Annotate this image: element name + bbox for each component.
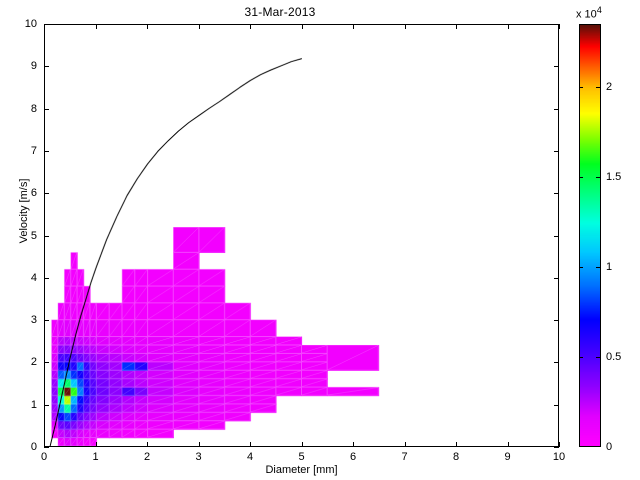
colorbar-tick-label-1.5: 1.5 <box>606 171 621 183</box>
y-tick-mark <box>554 447 559 448</box>
colorbar-tick-label-2: 2 <box>606 81 612 93</box>
y-axis-label: Velocity [m/s] <box>18 151 30 271</box>
x-tick-mark <box>250 442 251 447</box>
x-tick-mark <box>302 442 303 447</box>
y-tick-mark <box>44 320 49 321</box>
x-tick-label-8: 8 <box>453 451 459 463</box>
x-tick-label-0: 0 <box>41 451 47 463</box>
y-tick-label-8: 8 <box>0 103 37 115</box>
x-tick-label-10: 10 <box>553 451 565 463</box>
x-tick-mark <box>456 24 457 29</box>
y-tick-mark <box>554 236 559 237</box>
y-tick-mark <box>554 278 559 279</box>
x-tick-mark <box>96 24 97 29</box>
y-tick-mark <box>554 320 559 321</box>
colorbar-tick-label-0: 0 <box>606 441 612 453</box>
x-tick-mark <box>302 24 303 29</box>
y-tick-label-3: 3 <box>0 314 37 326</box>
y-tick-mark <box>44 278 49 279</box>
y-tick-mark <box>44 447 49 448</box>
colorbar-tick-mark <box>579 267 583 268</box>
y-tick-mark <box>554 405 559 406</box>
matlab-figure-window: 31-Mar-2013 012345678910 012345678910 Di… <box>0 0 640 480</box>
x-tick-label-6: 6 <box>350 451 356 463</box>
colorbar: 00.511.52 <box>579 24 601 447</box>
page-title: 31-Mar-2013 <box>0 5 560 19</box>
colorbar-tick-mark <box>579 357 583 358</box>
y-tick-label-4: 4 <box>0 272 37 284</box>
y-tick-label-10: 10 <box>0 18 37 30</box>
x-tick-mark <box>559 442 560 447</box>
x-tick-mark <box>353 24 354 29</box>
x-tick-mark <box>456 442 457 447</box>
x-tick-mark <box>508 24 509 29</box>
y-tick-mark <box>44 66 49 67</box>
x-tick-label-7: 7 <box>401 451 407 463</box>
x-axis-label: Diameter [mm] <box>44 464 559 476</box>
y-tick-mark <box>44 193 49 194</box>
y-tick-label-0: 0 <box>0 441 37 453</box>
x-tick-mark <box>147 442 148 447</box>
y-tick-mark <box>554 193 559 194</box>
x-tick-label-9: 9 <box>504 451 510 463</box>
x-tick-mark <box>405 442 406 447</box>
y-tick-label-2: 2 <box>0 356 37 368</box>
x-tick-mark <box>250 24 251 29</box>
y-tick-label-1: 1 <box>0 399 37 411</box>
heatmap-canvas <box>45 25 558 446</box>
x-tick-mark <box>199 442 200 447</box>
y-tick-mark <box>554 24 559 25</box>
x-tick-mark <box>96 442 97 447</box>
y-tick-mark <box>44 405 49 406</box>
y-tick-mark <box>44 109 49 110</box>
y-tick-mark <box>44 151 49 152</box>
y-tick-mark <box>554 109 559 110</box>
colorbar-multiplier-mantissa: x 10 <box>576 9 597 21</box>
x-tick-mark <box>405 24 406 29</box>
colorbar-multiplier-label: x 104 <box>576 5 602 21</box>
x-tick-label-5: 5 <box>298 451 304 463</box>
y-tick-mark <box>44 236 49 237</box>
y-tick-label-9: 9 <box>0 60 37 72</box>
colorbar-tick-label-1: 1 <box>606 261 612 273</box>
colorbar-tick-mark <box>596 267 600 268</box>
y-tick-mark <box>44 24 49 25</box>
x-tick-mark <box>147 24 148 29</box>
colorbar-gradient-canvas <box>580 25 600 446</box>
x-tick-label-4: 4 <box>247 451 253 463</box>
x-tick-mark <box>559 24 560 29</box>
colorbar-tick-label-0.5: 0.5 <box>606 351 621 363</box>
colorbar-tick-mark <box>596 87 600 88</box>
y-tick-mark <box>554 151 559 152</box>
y-tick-mark <box>554 362 559 363</box>
colorbar-tick-mark <box>596 177 600 178</box>
x-tick-mark <box>199 24 200 29</box>
plot-axes <box>44 24 559 447</box>
colorbar-multiplier-exponent: 4 <box>597 5 602 15</box>
x-tick-label-2: 2 <box>144 451 150 463</box>
x-tick-mark <box>353 442 354 447</box>
x-tick-label-1: 1 <box>92 451 98 463</box>
x-tick-label-3: 3 <box>195 451 201 463</box>
colorbar-tick-mark <box>596 357 600 358</box>
colorbar-tick-mark <box>579 177 583 178</box>
y-tick-mark <box>554 66 559 67</box>
x-tick-mark <box>508 442 509 447</box>
y-tick-mark <box>44 362 49 363</box>
colorbar-tick-mark <box>579 87 583 88</box>
